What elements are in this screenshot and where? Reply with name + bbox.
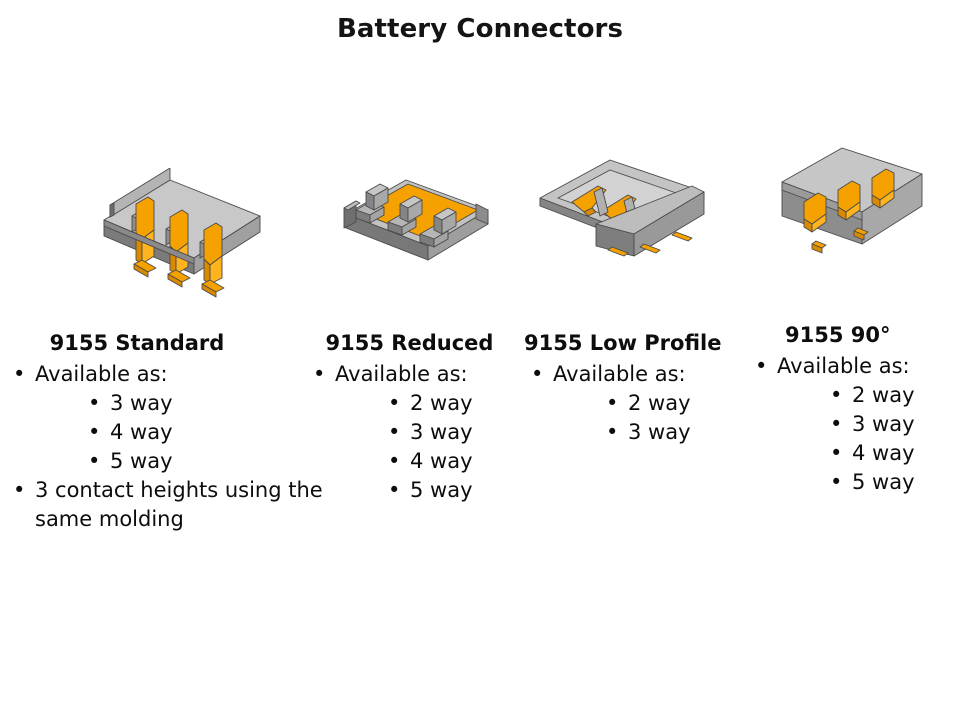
list-item-label: 3 way xyxy=(852,410,960,439)
list-item: • 3 way xyxy=(85,389,330,418)
way-options-low-profile: • 2 way • 3 way xyxy=(553,389,768,447)
column-right-angle: 9155 90° • Available as: • 2 way • 3 way… xyxy=(740,322,960,497)
way-options-right-angle: • 2 way • 3 way • 4 way • 5 way xyxy=(777,381,960,497)
column-low-profile: 9155 Low Profile • Available as: • 2 way… xyxy=(518,330,768,447)
list-item: • 3 contact heights using the same moldi… xyxy=(10,476,330,534)
list-item: • 2 way xyxy=(385,389,531,418)
bullet-icon: • xyxy=(606,418,618,447)
bullet-icon: • xyxy=(388,389,400,418)
connector-9155-reduced-image xyxy=(336,164,501,274)
list-item-label: 3 contact heights using the same molding xyxy=(35,476,330,534)
column-heading-right-angle: 9155 90° xyxy=(740,322,960,348)
list-item-label: Available as: xyxy=(777,352,960,381)
list-item: • Available as: • 2 way • 3 way • 4 way xyxy=(310,360,531,505)
slide-canvas: Battery Connectors xyxy=(0,0,960,720)
list-item: • 5 way xyxy=(827,468,960,497)
bullet-icon: • xyxy=(531,360,543,389)
column-heading-standard: 9155 Standard xyxy=(0,330,330,356)
connector-9155-low-profile-image xyxy=(532,150,712,270)
bullet-icon: • xyxy=(755,352,767,381)
bullet-icon: • xyxy=(388,418,400,447)
list-item-label: 5 way xyxy=(852,468,960,497)
list-item: • 4 way xyxy=(385,447,531,476)
bullet-icon: • xyxy=(830,439,842,468)
feature-list-standard: • Available as: • 3 way • 4 way • 5 way xyxy=(0,360,330,534)
list-item-label: 4 way xyxy=(852,439,960,468)
list-item-label: Available as: xyxy=(335,360,531,389)
list-item-label: 2 way xyxy=(410,389,531,418)
way-options-standard: • 3 way • 4 way • 5 way xyxy=(35,389,330,476)
list-item: • 3 way xyxy=(385,418,531,447)
list-item: • Available as: • 2 way • 3 way xyxy=(528,360,768,447)
connector-9155-standard-image xyxy=(92,168,267,298)
feature-list-reduced: • Available as: • 2 way • 3 way • 4 way xyxy=(296,360,531,505)
bullet-icon: • xyxy=(13,360,25,389)
feature-list-right-angle: • Available as: • 2 way • 3 way • 4 way xyxy=(740,352,960,497)
bullet-icon: • xyxy=(830,410,842,439)
list-item: • Available as: • 2 way • 3 way • 4 way xyxy=(752,352,960,497)
list-item-label: 2 way xyxy=(852,381,960,410)
list-item-label: 3 way xyxy=(410,418,531,447)
column-heading-low-profile: 9155 Low Profile xyxy=(518,330,768,356)
bullet-icon: • xyxy=(830,468,842,497)
bullet-icon: • xyxy=(388,476,400,505)
feature-list-low-profile: • Available as: • 2 way • 3 way xyxy=(518,360,768,447)
list-item-label: 4 way xyxy=(410,447,531,476)
column-heading-reduced: 9155 Reduced xyxy=(296,330,531,356)
bullet-icon: • xyxy=(13,476,25,505)
bullet-icon: • xyxy=(313,360,325,389)
bullet-icon: • xyxy=(388,447,400,476)
list-item-label: 5 way xyxy=(410,476,531,505)
bullet-icon: • xyxy=(606,389,618,418)
list-item-label: Available as: xyxy=(553,360,768,389)
bullet-icon: • xyxy=(88,418,100,447)
page-title: Battery Connectors xyxy=(0,14,960,44)
list-item: • 5 way xyxy=(385,476,531,505)
bullet-icon: • xyxy=(88,447,100,476)
list-item: • 3 way xyxy=(827,410,960,439)
column-reduced: 9155 Reduced • Available as: • 2 way • 3… xyxy=(296,330,531,505)
list-item: • Available as: • 3 way • 4 way • 5 way xyxy=(10,360,330,476)
list-item: • 2 way xyxy=(827,381,960,410)
list-item: • 4 way xyxy=(827,439,960,468)
list-item: • 4 way xyxy=(85,418,330,447)
bullet-icon: • xyxy=(88,389,100,418)
list-item-label: Available as: xyxy=(35,360,330,389)
column-standard: 9155 Standard • Available as: • 3 way • … xyxy=(0,330,330,534)
list-item: • 5 way xyxy=(85,447,330,476)
connector-9155-90-degree-image xyxy=(770,140,935,265)
way-options-reduced: • 2 way • 3 way • 4 way • 5 way xyxy=(335,389,531,505)
bullet-icon: • xyxy=(830,381,842,410)
